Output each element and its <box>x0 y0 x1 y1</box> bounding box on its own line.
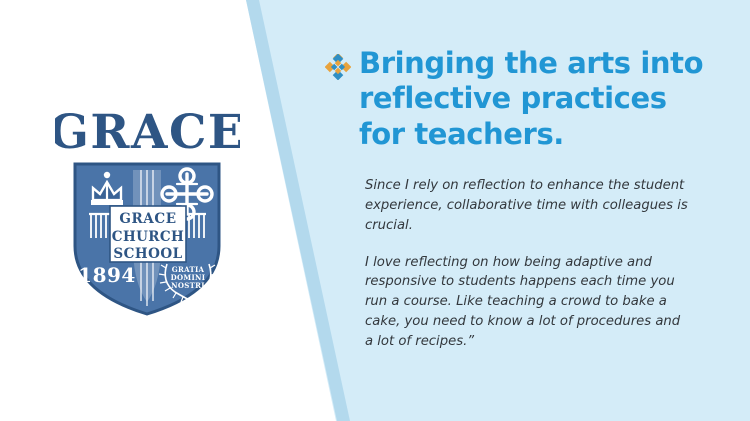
motto-line-3: NOSTRI <box>171 281 205 290</box>
crest-line-3: SCHOOL <box>113 246 182 262</box>
logo-wordmark: GRACE <box>55 105 240 160</box>
content-column: Bringing the arts into reflective practi… <box>325 46 725 352</box>
crest-founded-year: 1894 <box>78 263 136 287</box>
pinwheel-diamond-icon <box>325 54 351 80</box>
crest-line-2: CHURCH <box>112 229 184 245</box>
crest-name-panel: GRACE CHURCH SCHOOL <box>110 206 186 262</box>
grace-church-school-logo: GRACE <box>55 96 240 321</box>
quote-paragraph-2: I love reflecting on how being adaptive … <box>365 253 690 352</box>
headline-row: Bringing the arts into reflective practi… <box>325 46 725 152</box>
slide-canvas: GRACE <box>0 0 750 421</box>
quote-paragraph-1: Since I rely on reflection to enhance th… <box>365 176 690 235</box>
crest-line-1: GRACE <box>119 211 176 227</box>
page-title: Bringing the arts into reflective practi… <box>359 46 719 152</box>
quote-block: Since I rely on reflection to enhance th… <box>365 176 690 351</box>
